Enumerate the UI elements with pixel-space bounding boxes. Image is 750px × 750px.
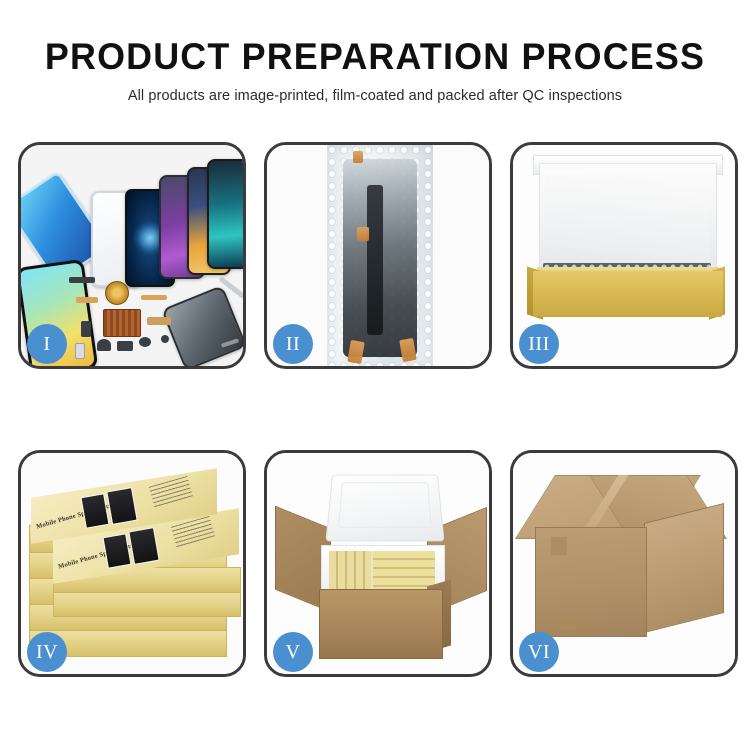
step-badge-3: III <box>519 324 559 364</box>
process-step-5: V <box>264 450 492 677</box>
page-title: PRODUCT PREPARATION PROCESS <box>11 38 739 75</box>
boxes-row-horizontal <box>373 551 435 593</box>
phone-back-cover-icon <box>161 285 243 366</box>
page-subtitle: All products are image-printed, film-coa… <box>0 88 750 104</box>
carton-tape-patch-icon <box>551 537 567 555</box>
small-part-icon <box>161 335 169 343</box>
bubble-wrap-pouch-icon <box>327 145 433 366</box>
small-part-icon <box>97 339 111 351</box>
flex-strip-icon <box>367 185 383 335</box>
process-step-6: VI <box>510 450 738 677</box>
tape-piece-icon <box>347 340 365 364</box>
boxes-row-vertical <box>329 551 371 593</box>
foam-lid-icon <box>325 475 444 542</box>
step-badge-4: IV <box>27 632 67 672</box>
tape-piece-icon <box>353 151 363 163</box>
small-part-icon <box>139 337 151 347</box>
process-step-4: Mobile Phone Spare Parts Mobile Phone Sp… <box>18 450 246 677</box>
box-phone-graphic <box>106 487 138 525</box>
header: PRODUCT PREPARATION PROCESS All products… <box>0 0 750 104</box>
flex-cable-icon <box>147 317 171 325</box>
flex-cable-icon <box>141 295 167 300</box>
carton-front-icon <box>319 589 443 659</box>
stacked-box <box>53 591 241 617</box>
process-step-2: II <box>264 142 492 369</box>
small-part-icon <box>117 341 133 351</box>
small-part-icon <box>75 343 85 359</box>
tape-piece-icon <box>357 227 369 241</box>
step-badge-6: VI <box>519 632 559 672</box>
step-badge-1: I <box>27 324 67 364</box>
small-part-icon <box>69 277 95 283</box>
process-step-3: III <box>510 142 738 369</box>
foam-cavity-icon <box>329 551 435 593</box>
carton-tape-patch-icon <box>559 613 577 629</box>
foam-sheet-icon <box>545 175 709 271</box>
flex-cable-icon <box>76 297 98 303</box>
phone-screen-teal-icon <box>207 159 243 269</box>
step-badge-5: V <box>273 632 313 672</box>
process-step-grid: I II III <box>18 142 737 677</box>
circuit-board-icon <box>103 309 141 337</box>
process-step-1: I <box>18 142 246 369</box>
box-phone-graphic <box>128 527 160 565</box>
step-badge-2: II <box>273 324 313 364</box>
coil-part-icon <box>105 281 129 305</box>
box-body-icon <box>533 271 723 317</box>
small-part-icon <box>81 321 91 337</box>
carton-side-panel-icon <box>644 503 724 633</box>
